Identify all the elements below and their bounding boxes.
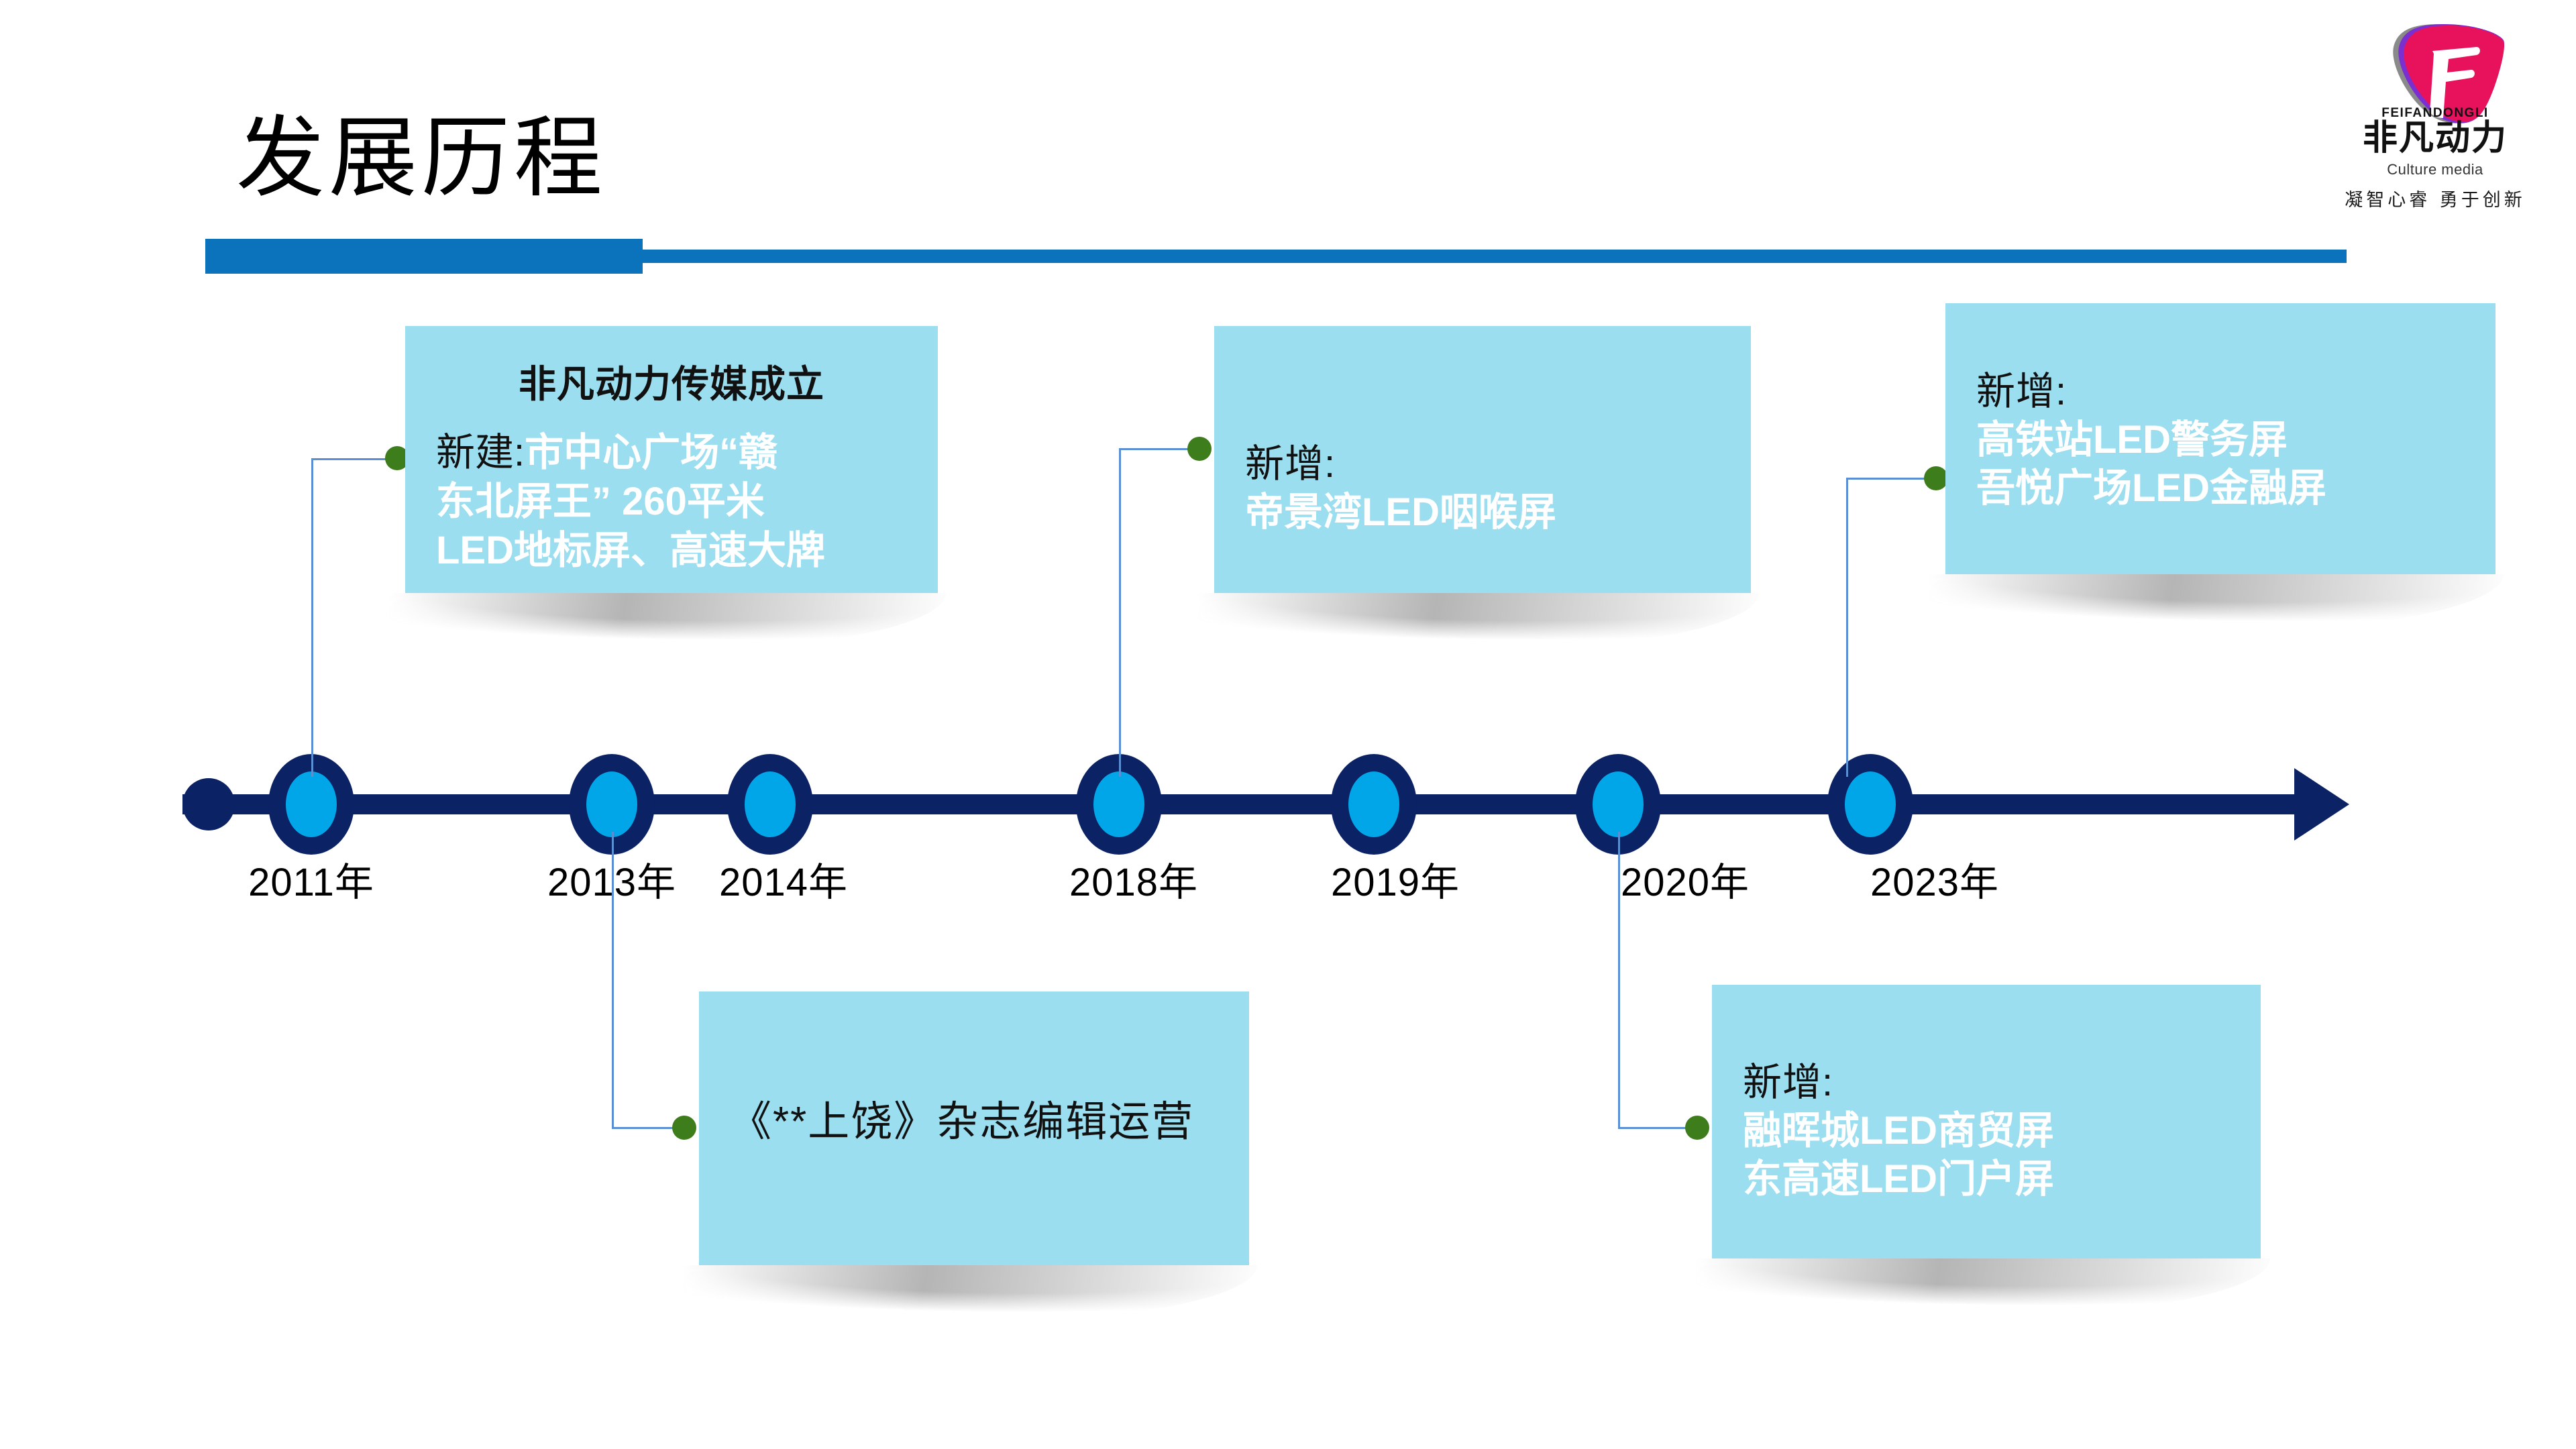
timeline-axis bbox=[182, 794, 2322, 814]
card-2013-content: 《**上饶》杂志编辑运营 bbox=[699, 991, 1249, 1265]
timeline-arrow-icon bbox=[2294, 768, 2349, 841]
timeline-year-2014: 2014年 bbox=[719, 851, 848, 907]
timeline-node-2019[interactable] bbox=[1331, 754, 1417, 855]
company-logo: FEIFANDONGLI 非凡动力 Culture media 凝智心睿 勇于创… bbox=[2334, 20, 2536, 221]
card-2020[interactable]: 新增: 融晖城LED商贸屏 东高速LED门户屏 bbox=[1712, 985, 2261, 1258]
page-title: 发展历程 bbox=[236, 114, 606, 203]
card-2011-shadow bbox=[389, 593, 946, 651]
card-2011-body: 新建:市中心广场“赣 东北屏王” 260平米 LED地标屏、高速大牌 bbox=[436, 428, 907, 575]
card-2011[interactable]: 非凡动力传媒成立 新建:市中心广场“赣 东北屏王” 260平米 LED地标屏、高… bbox=[405, 326, 938, 593]
card-2011-title: 非凡动力传媒成立 bbox=[436, 364, 907, 405]
card-2018-line1: 帝景湾LED咽喉屏 bbox=[1245, 488, 1720, 537]
card-2023-label: 新增: bbox=[1976, 368, 2465, 416]
card-2018[interactable]: 新增: 帝景湾LED咽喉屏 bbox=[1214, 326, 1751, 593]
card-2020-line1: 融晖城LED商贸屏 bbox=[1743, 1107, 2230, 1155]
card-2013-shadow bbox=[683, 1265, 1257, 1323]
connector-dot-2020 bbox=[1685, 1116, 1709, 1140]
connector-dot-2018 bbox=[1187, 437, 1212, 461]
title-underline-block bbox=[205, 239, 643, 274]
card-2023-line2: 吾悦广场LED金融屏 bbox=[1976, 464, 2465, 513]
connector-dot-2013 bbox=[672, 1116, 696, 1140]
timeline-year-2011: 2011年 bbox=[248, 851, 374, 907]
card-2011-label: 新建: bbox=[436, 431, 525, 474]
card-2011-content: 非凡动力传媒成立 新建:市中心广场“赣 东北屏王” 260平米 LED地标屏、高… bbox=[405, 326, 938, 593]
timeline-year-2018: 2018年 bbox=[1069, 851, 1198, 907]
logo-subtitle: Culture media bbox=[2334, 161, 2536, 178]
title-underline-line bbox=[643, 250, 2347, 263]
card-2011-line1: 市中心广场“赣 bbox=[525, 431, 777, 474]
logo-tagline: 凝智心睿 勇于创新 bbox=[2334, 185, 2536, 211]
card-2023-line1: 高铁站LED警务屏 bbox=[1976, 416, 2465, 464]
card-2020-content: 新增: 融晖城LED商贸屏 东高速LED门户屏 bbox=[1712, 985, 2261, 1258]
timeline-year-2020: 2020年 bbox=[1621, 851, 1750, 907]
card-2023[interactable]: 新增: 高铁站LED警务屏 吾悦广场LED金融屏 bbox=[1945, 303, 2495, 574]
card-2013[interactable]: 《**上饶》杂志编辑运营 bbox=[699, 991, 1249, 1265]
card-2018-content: 新增: 帝景湾LED咽喉屏 bbox=[1214, 326, 1751, 593]
timeline-year-2019: 2019年 bbox=[1331, 851, 1460, 907]
card-2020-label: 新增: bbox=[1743, 1059, 2230, 1107]
card-2018-label: 新增: bbox=[1245, 440, 1720, 488]
card-2020-shadow bbox=[1696, 1258, 2270, 1316]
timeline-node-2014[interactable] bbox=[727, 754, 813, 855]
timeline-node-2023[interactable] bbox=[1827, 754, 1913, 855]
connector-dot-2023 bbox=[1924, 466, 1948, 490]
timeline-start-dot bbox=[182, 778, 235, 830]
card-2020-line2: 东高速LED门户屏 bbox=[1743, 1155, 2230, 1203]
slide-canvas: 发展历程 FEIFANDONGLI 非凡动力 Culture media 凝智心… bbox=[0, 0, 2576, 1449]
card-2023-shadow bbox=[1929, 574, 2504, 632]
card-2018-shadow bbox=[1198, 593, 1759, 651]
card-2011-line2: 东北屏王” 260平米 bbox=[436, 477, 907, 526]
logo-name-cn: 非凡动力 bbox=[2334, 121, 2536, 156]
card-2011-line3: LED地标屏、高速大牌 bbox=[436, 526, 907, 575]
card-2023-content: 新增: 高铁站LED警务屏 吾悦广场LED金融屏 bbox=[1945, 303, 2495, 574]
timeline-year-2023: 2023年 bbox=[1870, 851, 1999, 907]
card-2013-text: 《**上饶》杂志编辑运营 bbox=[730, 1097, 1218, 1147]
